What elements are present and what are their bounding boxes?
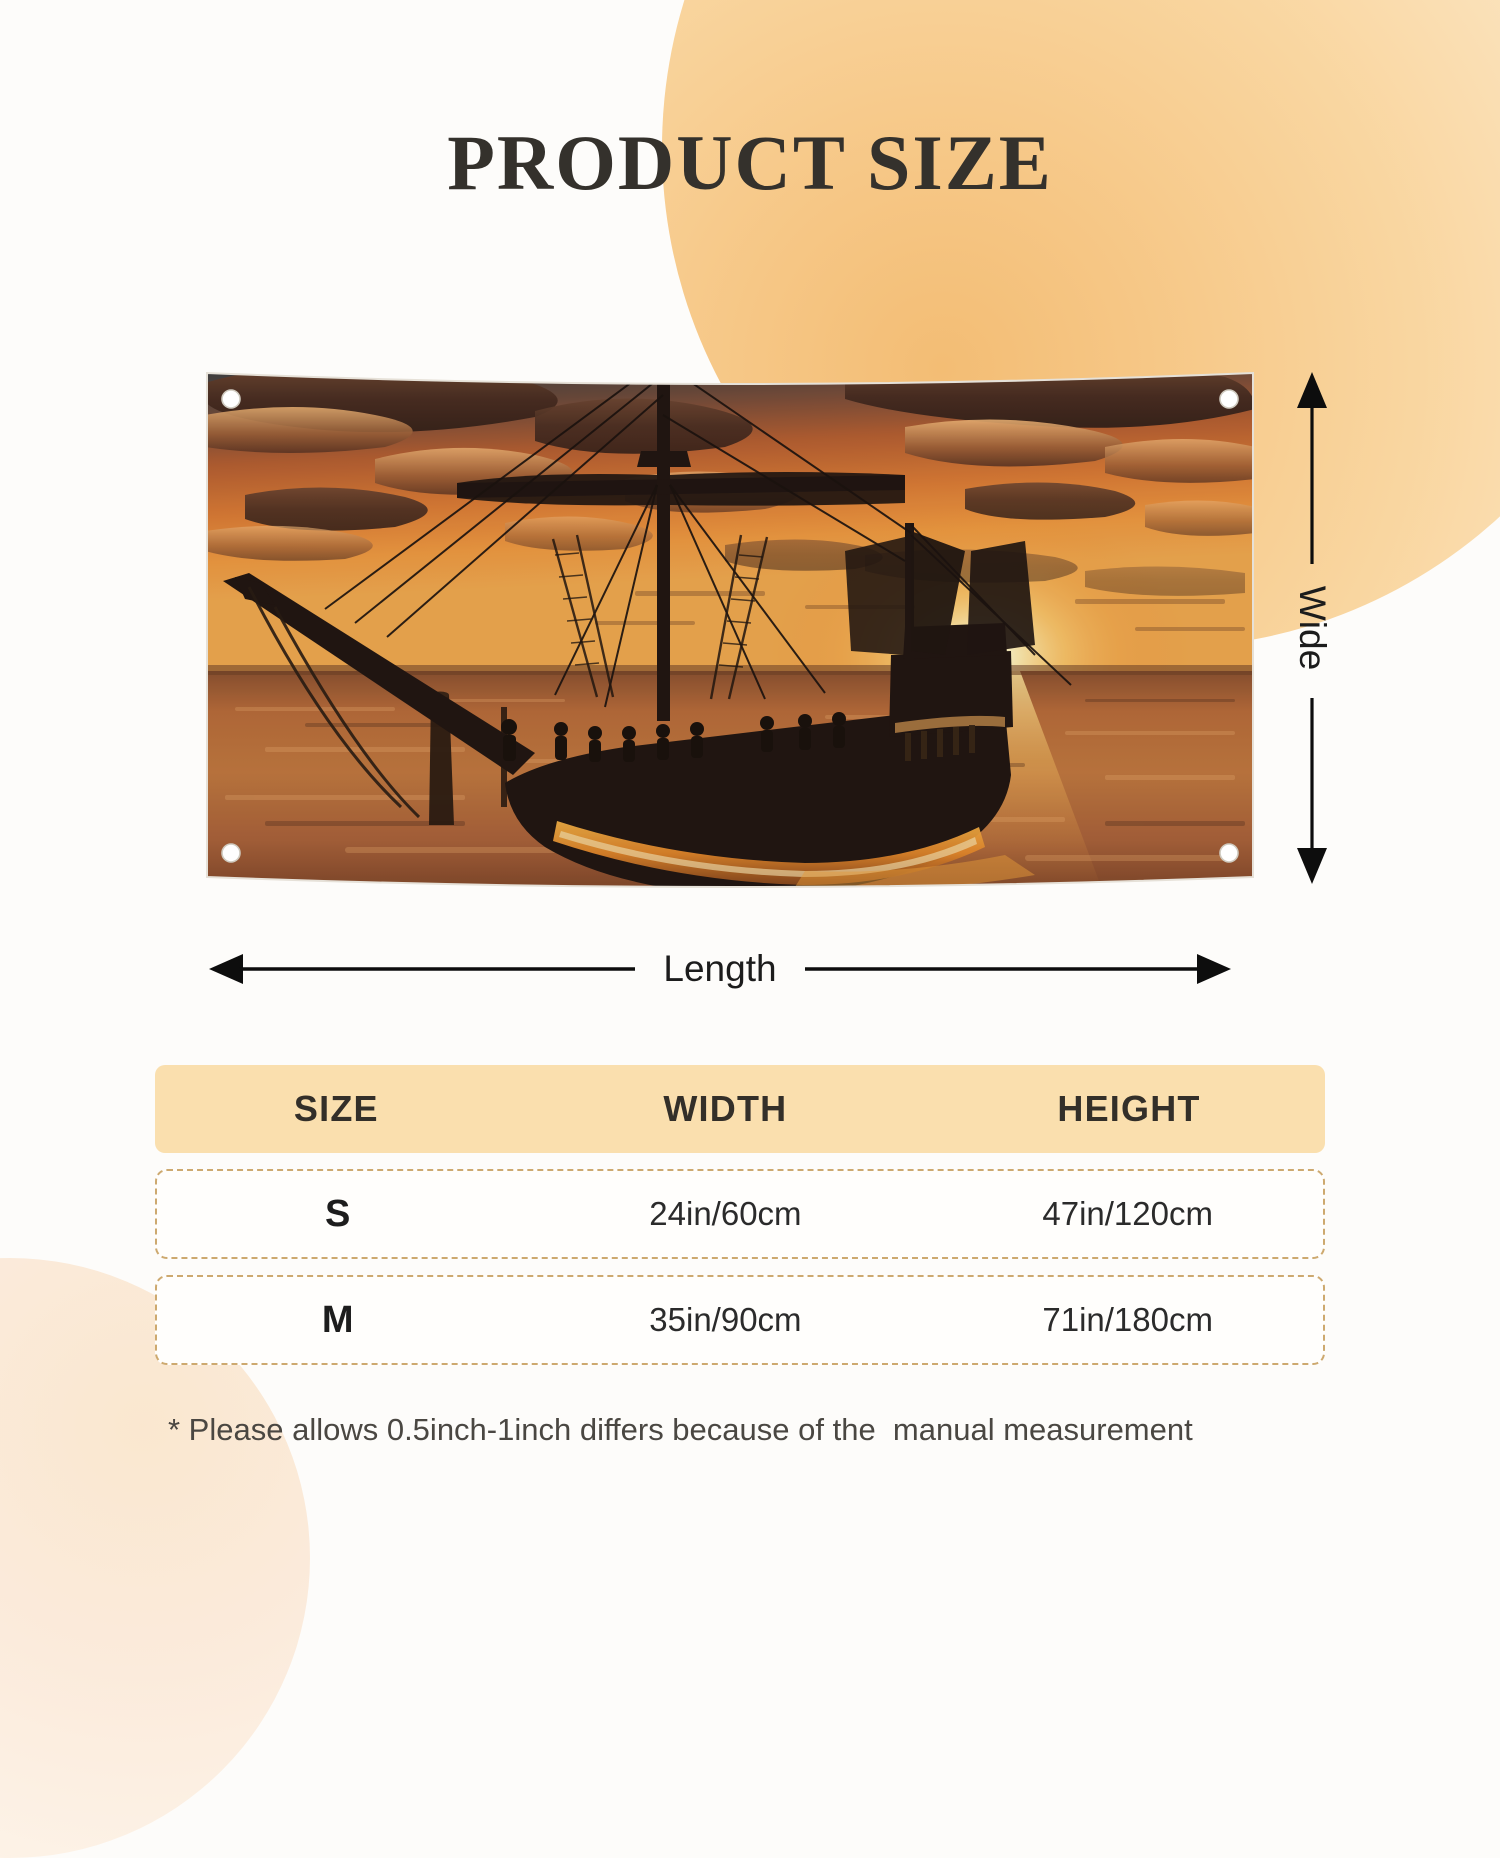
table-header-row: SIZE WIDTH HEIGHT: [155, 1065, 1325, 1153]
measurement-footnote: * Please allows 0.5inch-1inch differs be…: [168, 1412, 1368, 1448]
banner-artwork: [205, 355, 1255, 895]
cell-size: S: [157, 1193, 518, 1236]
cell-height: 47in/120cm: [932, 1195, 1323, 1233]
table-row: M 35in/90cm 71in/180cm: [155, 1275, 1325, 1365]
wide-label-text: Wide: [1291, 586, 1333, 670]
column-header-height: HEIGHT: [933, 1088, 1325, 1130]
page-title: PRODUCT SIZE: [0, 118, 1500, 208]
column-header-width: WIDTH: [518, 1088, 933, 1130]
product-banner-image: [205, 355, 1255, 895]
wide-label: Wide: [1270, 368, 1354, 888]
cell-height: 71in/180cm: [932, 1301, 1323, 1339]
cell-size: M: [157, 1299, 518, 1342]
length-label: Length: [205, 930, 1235, 1008]
wide-dimension-arrow: Wide: [1270, 368, 1354, 888]
table-row: S 24in/60cm 47in/120cm: [155, 1169, 1325, 1259]
length-dimension-arrow: Length: [205, 930, 1235, 1008]
cell-width: 35in/90cm: [518, 1301, 932, 1339]
column-header-size: SIZE: [155, 1088, 518, 1130]
size-table: SIZE WIDTH HEIGHT S 24in/60cm 47in/120cm…: [155, 1065, 1325, 1365]
cell-width: 24in/60cm: [518, 1195, 932, 1233]
